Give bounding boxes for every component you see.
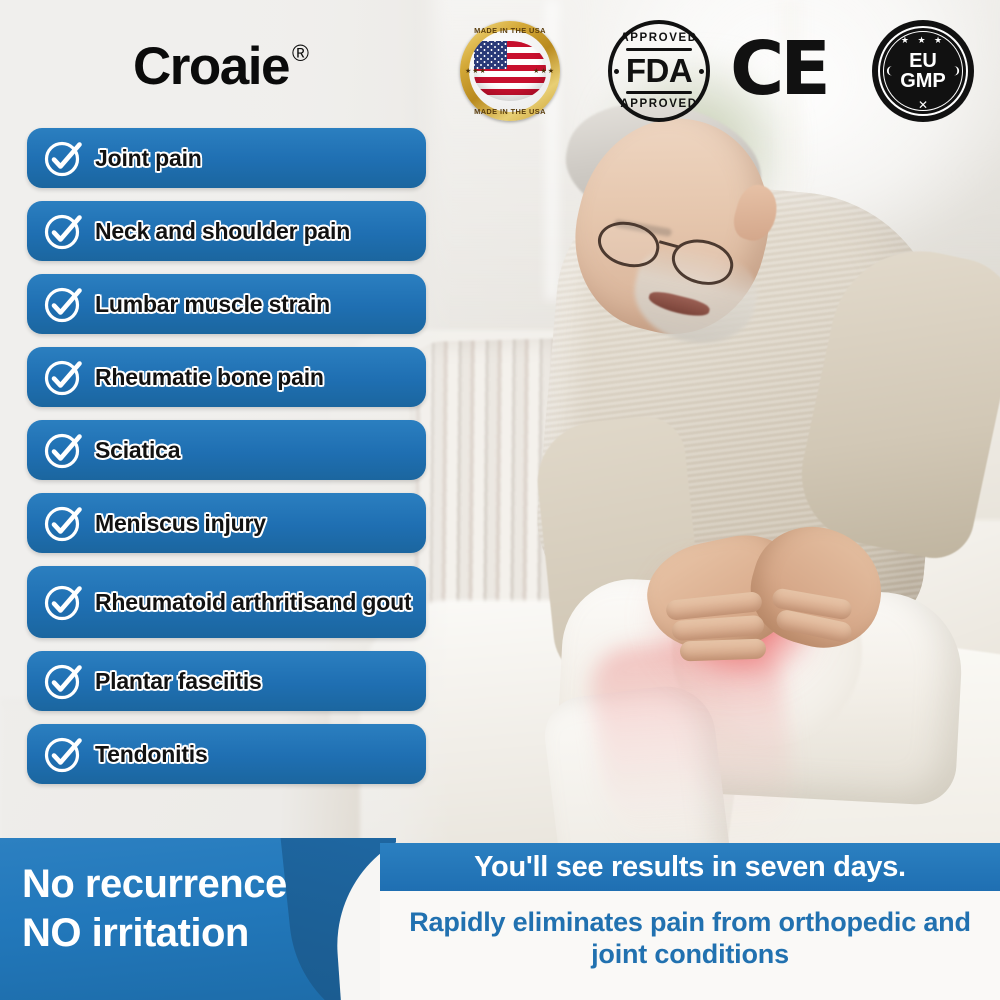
fda-dot-right xyxy=(699,69,704,74)
benefit-label: Lumbar muscle strain xyxy=(95,292,340,316)
check-circle-icon xyxy=(41,428,85,472)
fda-dot-left xyxy=(614,69,619,74)
made-in-usa-text-top: MADE IN THE USA xyxy=(460,26,560,35)
benefit-label: Tendonitis xyxy=(95,742,218,766)
results-subline: Rapidly eliminates pain from orthopedic … xyxy=(380,907,1000,971)
brand-logo: Croaie ® xyxy=(133,40,307,93)
glasses-bridge xyxy=(659,240,679,248)
check-circle-icon xyxy=(41,580,85,624)
results-subline-bar: Rapidly eliminates pain from orthopedic … xyxy=(380,891,1000,1000)
benefit-item-tendonitis[interactable]: Tendonitis xyxy=(27,724,426,784)
benefit-label: Joint pain xyxy=(95,146,212,170)
advertisement-canvas: Croaie ® MADE IN THE USA MADE IN THE USA… xyxy=(0,0,1000,1000)
benefit-label: Sciatica xyxy=(95,438,190,462)
laurel-base-icon: ✕ xyxy=(918,98,928,112)
benefit-item-sciatica[interactable]: Sciatica xyxy=(27,420,426,480)
check-circle-icon xyxy=(41,501,85,545)
check-circle-icon xyxy=(41,659,85,703)
no-recurrence-line1: No recurrence xyxy=(22,860,287,909)
benefit-item-rheumatie-bone-pain[interactable]: Rheumatie bone pain xyxy=(27,347,426,407)
gmp-line2: GMP xyxy=(900,71,946,91)
ce-mark-icon: CE xyxy=(730,36,827,103)
benefit-item-neck-shoulder-pain[interactable]: Neck and shoulder pain xyxy=(27,201,426,261)
fda-text-main: FDA xyxy=(626,52,692,90)
fda-text-top: APPROVED xyxy=(620,32,697,44)
benefit-item-meniscus-injury[interactable]: Meniscus injury xyxy=(27,493,426,553)
registered-trademark-icon: ® xyxy=(292,42,307,65)
benefit-label: Meniscus injury xyxy=(95,511,276,535)
certification-badges: MADE IN THE USA MADE IN THE USA ★★★ ★★★ … xyxy=(460,14,990,122)
fda-rule-bottom xyxy=(626,91,692,94)
results-headline: You'll see results in seven days. xyxy=(474,851,906,884)
eu-gmp-badge-icon: ★ ★ ★ ❨ ❩ EU GMP ✕ xyxy=(872,20,974,122)
fda-approved-badge-icon: APPROVED FDA APPROVED xyxy=(608,20,710,122)
benefit-list: Joint pain Neck and shoulder pain Lumbar… xyxy=(27,128,426,797)
brand-name: Croaie xyxy=(133,40,289,93)
benefit-item-rheumatoid-arthritis-gout[interactable]: Rheumatoid arthritisand gout xyxy=(27,566,426,638)
check-circle-icon xyxy=(41,355,85,399)
bottom-banner: No recurrence NO irritation You'll see r… xyxy=(0,838,1000,1000)
benefit-label: Rheumatoid arthritisand gout xyxy=(95,590,421,614)
benefit-item-lumbar-muscle-strain[interactable]: Lumbar muscle strain xyxy=(27,274,426,334)
benefit-label: Neck and shoulder pain xyxy=(95,219,360,243)
benefit-item-plantar-fasciitis[interactable]: Plantar fasciitis xyxy=(27,651,426,711)
check-circle-icon xyxy=(41,732,85,776)
no-recurrence-line2: NO irritation xyxy=(22,909,287,958)
fda-text-bottom: APPROVED xyxy=(620,98,697,110)
check-circle-icon xyxy=(41,136,85,180)
made-in-usa-text-bottom: MADE IN THE USA xyxy=(460,107,560,116)
fda-rule-top xyxy=(626,48,692,51)
laurel-left-icon: ❨ xyxy=(885,66,893,77)
gmp-stars: ★ ★ ★ xyxy=(872,35,974,46)
benefit-item-joint-pain[interactable]: Joint pain xyxy=(27,128,426,188)
finger xyxy=(680,639,767,662)
benefit-label: Rheumatie bone pain xyxy=(95,365,334,389)
no-recurrence-text: No recurrence NO irritation xyxy=(22,860,287,958)
usa-stars-right: ★★★ xyxy=(533,67,555,75)
results-panel: You'll see results in seven days. Rapidl… xyxy=(340,838,1000,1000)
check-circle-icon xyxy=(41,209,85,253)
check-circle-icon xyxy=(41,282,85,326)
benefit-label: Plantar fasciitis xyxy=(95,669,272,693)
results-headline-bar: You'll see results in seven days. xyxy=(380,843,1000,891)
made-in-usa-badge-icon: MADE IN THE USA MADE IN THE USA ★★★ ★★★ xyxy=(460,21,560,121)
gmp-text: EU GMP xyxy=(900,51,946,91)
usa-stars-left: ★★★ xyxy=(465,67,487,75)
laurel-right-icon: ❩ xyxy=(953,66,961,77)
gmp-line1: EU xyxy=(900,51,946,71)
us-flag-canton xyxy=(474,41,507,69)
